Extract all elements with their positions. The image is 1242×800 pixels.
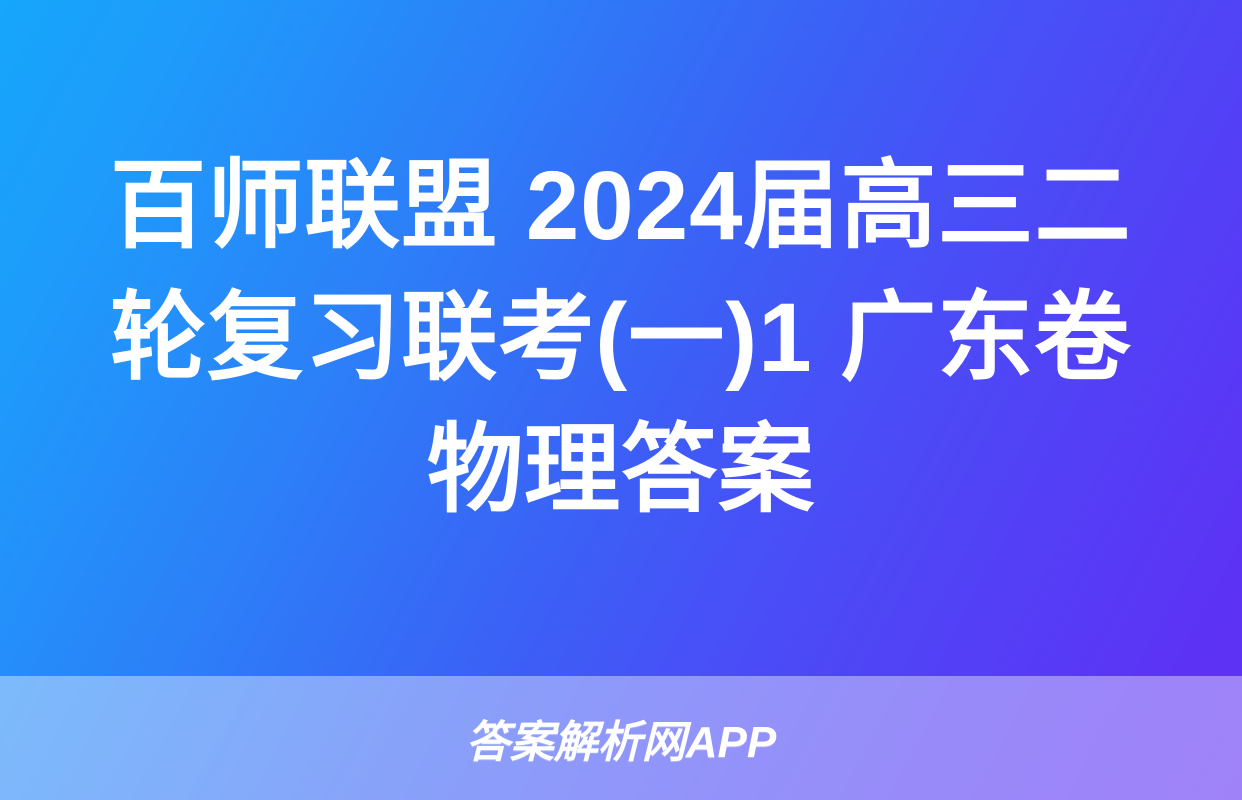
poster-canvas: 百师联盟 2024届高三二 轮复习联考(一)1 广东卷 物理答案 答案解析网AP… — [0, 0, 1242, 800]
headline-line-3: 物理答案 — [427, 404, 815, 536]
headline-line-2: 轮复习联考(一)1 广东卷 — [110, 272, 1131, 404]
headline-line-1: 百师联盟 2024届高三二 — [110, 140, 1131, 272]
footer-brand-band: 答案解析网APP — [0, 676, 1242, 800]
headline-block: 百师联盟 2024届高三二 轮复习联考(一)1 广东卷 物理答案 — [0, 0, 1242, 676]
footer-brand-label: 答案解析网APP — [466, 706, 776, 770]
